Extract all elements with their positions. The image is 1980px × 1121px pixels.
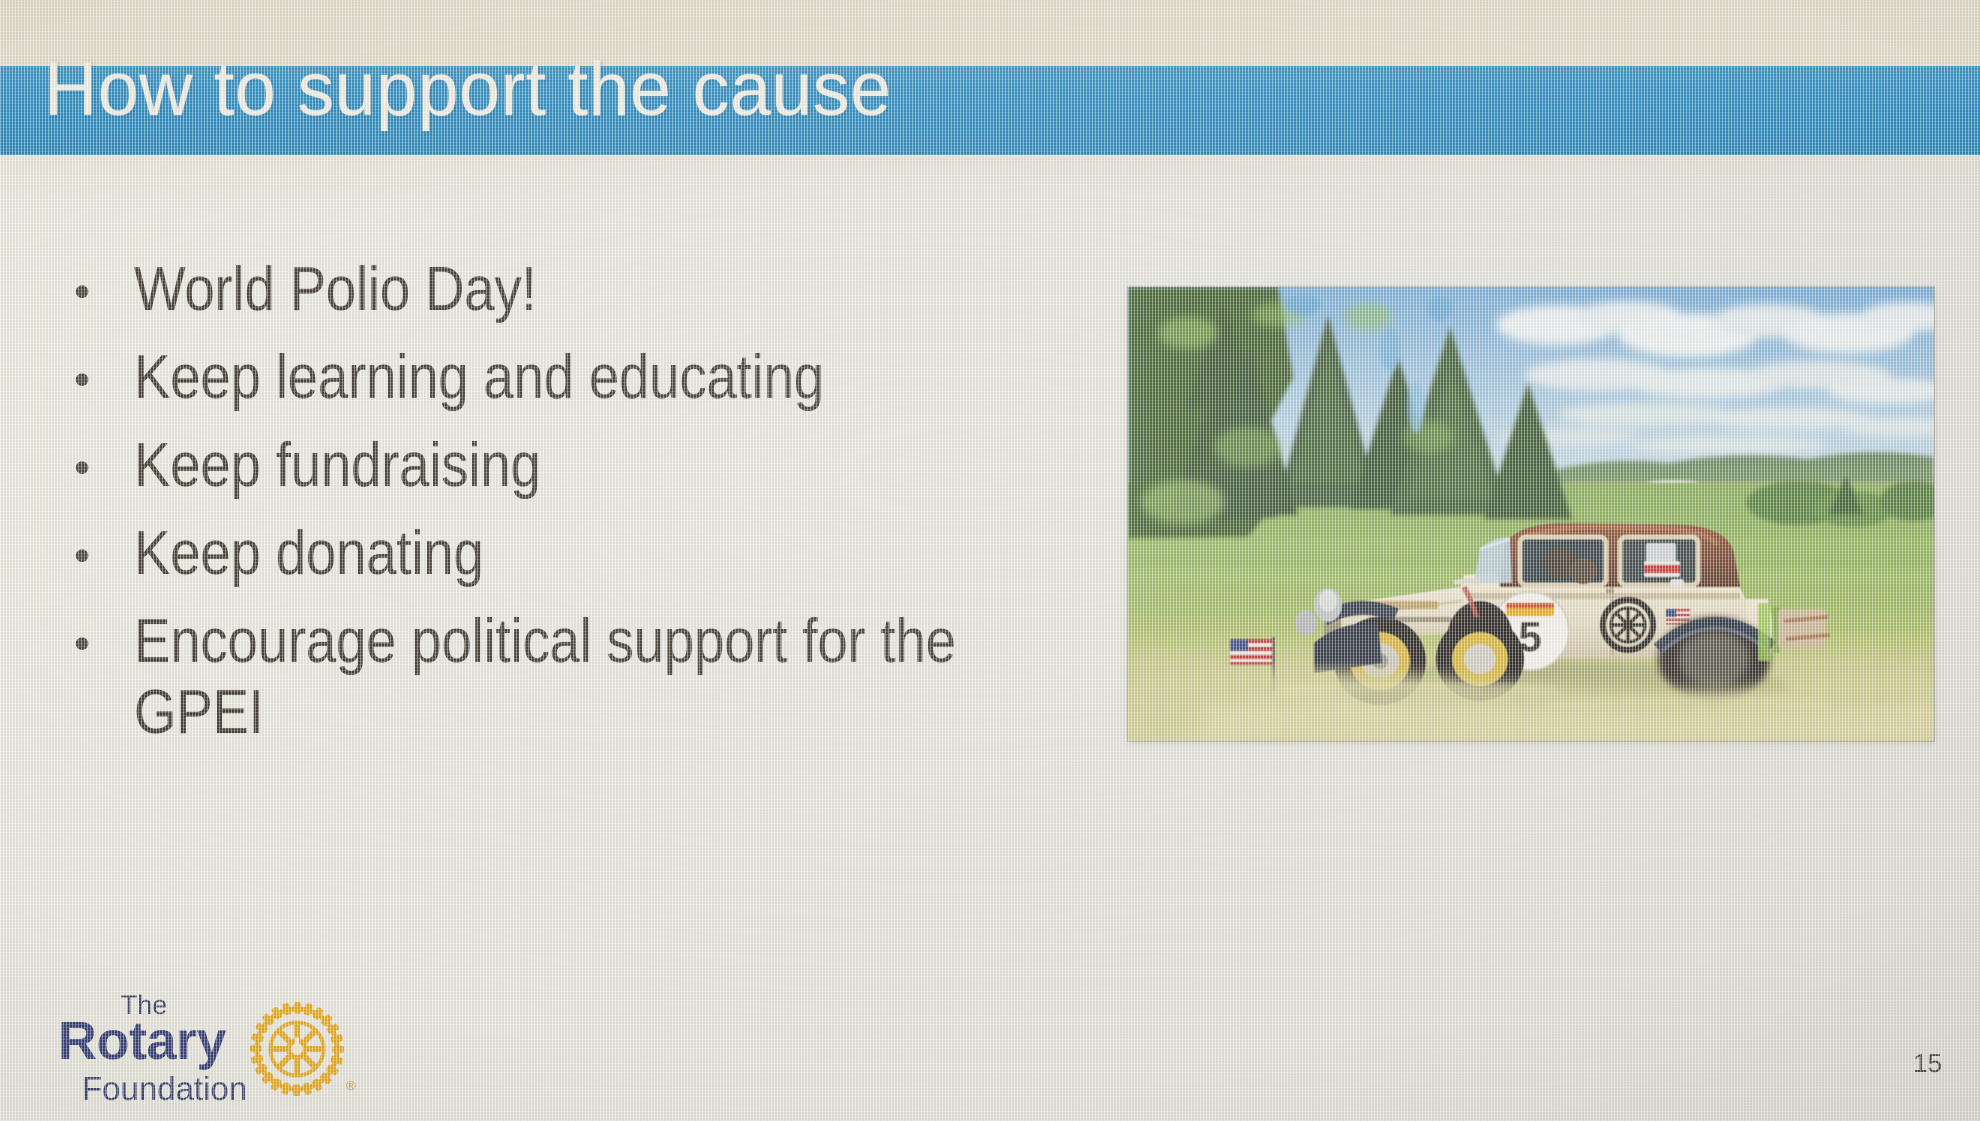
- list-item: • Keep donating: [62, 519, 1082, 591]
- bullet-marker-icon: •: [62, 607, 134, 679]
- rotary-wheel-icon: [248, 1000, 346, 1098]
- slide-photo: 5: [1128, 287, 1934, 741]
- bullet-marker-icon: •: [62, 343, 134, 415]
- page-title: How to support the cause: [44, 52, 892, 128]
- bullet-list: • World Polio Day! • Keep learning and e…: [62, 255, 1082, 764]
- bullet-text: World Polio Day!: [134, 255, 968, 326]
- bullet-marker-icon: •: [62, 255, 134, 327]
- logo-rotary-text: Rotary: [58, 1014, 246, 1068]
- bullet-text: Keep donating: [134, 519, 968, 590]
- bullet-text: Encourage political support for the GPEI: [134, 607, 968, 748]
- rotary-foundation-logo: The Rotary Foundation: [58, 992, 358, 1108]
- bullet-text: Keep learning and educating: [134, 343, 968, 414]
- bullet-text: Keep fundraising: [134, 431, 968, 502]
- bullet-marker-icon: •: [62, 519, 134, 591]
- slide-page-number: 15: [1913, 1048, 1942, 1079]
- list-item: • Keep learning and educating: [62, 343, 1082, 415]
- bullet-marker-icon: •: [62, 431, 134, 503]
- photo-artwork: 5: [1128, 287, 1934, 741]
- logo-foundation-text: Foundation: [82, 1072, 258, 1105]
- presentation-slide: How to support the cause • World Polio D…: [0, 0, 1980, 1121]
- list-item: • Encourage political support for the GP…: [62, 607, 1082, 748]
- list-item: • Keep fundraising: [62, 431, 1082, 503]
- registered-trademark-mark: ®: [346, 1078, 356, 1093]
- list-item: • World Polio Day!: [62, 255, 1082, 327]
